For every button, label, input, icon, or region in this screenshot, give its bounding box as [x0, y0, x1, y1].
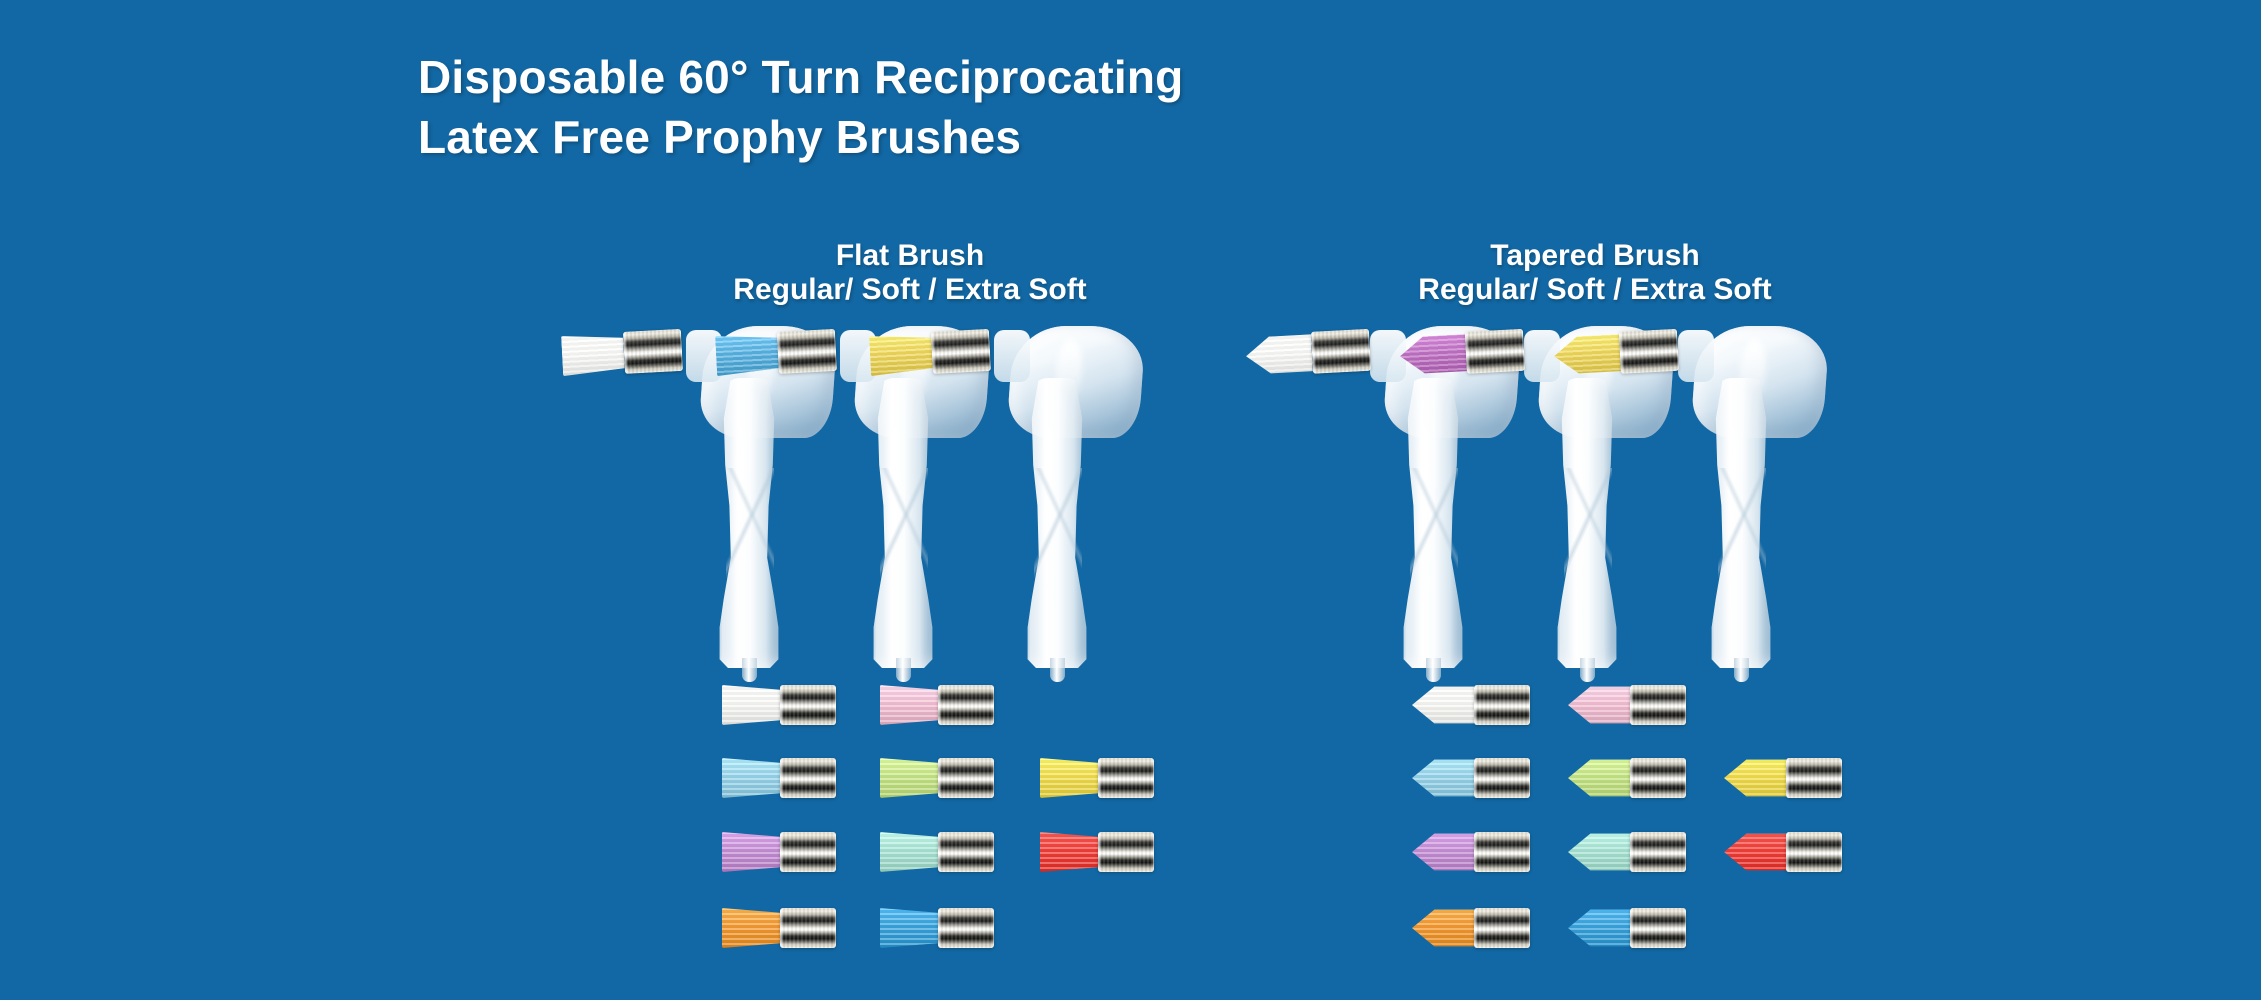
yellow-tapered-brush-handpiece-tip[interactable] [1553, 329, 1679, 377]
handpiece-stem [896, 658, 911, 682]
tapered-bristle [1568, 685, 1630, 725]
brush-head-flat-white[interactable] [722, 685, 836, 725]
tapered-bristle [1553, 333, 1621, 376]
handpiece-stem [1426, 658, 1441, 682]
brush-head-tapered-purple[interactable] [1412, 832, 1530, 872]
flat-bristle [722, 758, 780, 798]
flat-bristle [715, 333, 779, 376]
flat-bristle [1040, 832, 1098, 872]
handpiece-body [1552, 378, 1622, 668]
handpiece-collar [994, 330, 1030, 382]
tapered-bristle [1412, 685, 1474, 725]
handpiece-body [1398, 378, 1468, 668]
brush-head-tapered-lime-green[interactable] [1568, 758, 1686, 798]
metal-ferrule [623, 329, 683, 374]
metal-ferrule [780, 908, 836, 948]
flat-bristle [722, 685, 780, 725]
yellow-flat-brush-handpiece-tip[interactable] [869, 329, 991, 377]
metal-ferrule [938, 685, 994, 725]
flat-bristle [869, 333, 933, 376]
brush-head-flat-purple[interactable] [722, 832, 836, 872]
handpiece-stem [1050, 658, 1065, 682]
metal-ferrule [780, 832, 836, 872]
tapered-bristle [1399, 333, 1467, 376]
brush-head-flat-orange[interactable] [722, 908, 836, 948]
metal-ferrule [931, 329, 991, 374]
white-flat-brush-handpiece-tip[interactable] [561, 329, 683, 377]
metal-ferrule [1474, 832, 1530, 872]
tapered-bristle [1724, 758, 1786, 798]
brush-head-tapered-pink[interactable] [1568, 685, 1686, 725]
brush-head-tapered-orange[interactable] [1412, 908, 1530, 948]
flat-bristle [1040, 758, 1098, 798]
brush-head-tapered-red[interactable] [1724, 832, 1842, 872]
metal-ferrule [1474, 685, 1530, 725]
metal-ferrule [1786, 758, 1842, 798]
metal-ferrule [1098, 832, 1154, 872]
page-title: Disposable 60° Turn Reciprocating Latex … [418, 48, 1518, 168]
flat-bristle [722, 832, 780, 872]
tapered-bristle [1412, 758, 1474, 798]
metal-ferrule [1465, 329, 1525, 374]
purple-tapered-brush-handpiece-tip[interactable] [1399, 329, 1525, 377]
group-grades-flat: Regular/ Soft / Extra Soft [610, 272, 1210, 309]
handpiece-body [1706, 378, 1776, 668]
product-banner: Disposable 60° Turn Reciprocating Latex … [0, 0, 2261, 1000]
metal-ferrule [1630, 908, 1686, 948]
yellow-tapered-brush-handpiece[interactable] [1660, 318, 1840, 668]
tapered-bristle [1245, 333, 1313, 376]
metal-ferrule [938, 908, 994, 948]
yellow-flat-brush-handpiece[interactable] [976, 318, 1156, 668]
blue-flat-brush-handpiece-tip[interactable] [715, 329, 837, 377]
brush-head-flat-mint[interactable] [880, 832, 994, 872]
group-heading-tapered: Tapered Brush Regular/ Soft / Extra Soft [1295, 240, 1895, 309]
flat-bristle [880, 685, 938, 725]
group-grades-tapered: Regular/ Soft / Extra Soft [1295, 272, 1895, 309]
metal-ferrule [777, 329, 837, 374]
metal-ferrule [780, 758, 836, 798]
metal-ferrule [1630, 758, 1686, 798]
tapered-bristle [1412, 908, 1474, 948]
white-tapered-brush-handpiece-tip[interactable] [1245, 329, 1371, 377]
metal-ferrule [1786, 832, 1842, 872]
metal-ferrule [1098, 758, 1154, 798]
brush-head-flat-blue[interactable] [880, 908, 994, 948]
handpiece-body [1022, 378, 1092, 668]
metal-ferrule [1474, 908, 1530, 948]
page-title-line2: Latex Free Prophy Brushes [418, 108, 1518, 168]
flat-bristle [880, 758, 938, 798]
brush-head-flat-red[interactable] [1040, 832, 1154, 872]
tapered-bristle [1412, 832, 1474, 872]
brush-head-flat-light-blue[interactable] [722, 758, 836, 798]
tapered-bristle [1568, 758, 1630, 798]
metal-ferrule [1311, 329, 1371, 374]
flat-bristle [880, 832, 938, 872]
handpiece-stem [1580, 658, 1595, 682]
metal-ferrule [780, 685, 836, 725]
page-title-line1: Disposable 60° Turn Reciprocating [418, 51, 1183, 103]
handpiece-body [868, 378, 938, 668]
flat-bristle [880, 908, 938, 948]
handpiece-collar [1678, 330, 1714, 382]
metal-ferrule [1630, 685, 1686, 725]
metal-ferrule [1619, 329, 1679, 374]
tapered-bristle [1568, 832, 1630, 872]
group-heading-flat: Flat Brush Regular/ Soft / Extra Soft [610, 240, 1210, 309]
flat-bristle [561, 333, 625, 376]
brush-head-flat-pink[interactable] [880, 685, 994, 725]
handpiece-stem [742, 658, 757, 682]
metal-ferrule [938, 832, 994, 872]
metal-ferrule [938, 758, 994, 798]
flat-bristle [722, 908, 780, 948]
group-title-flat: Flat Brush [610, 240, 1210, 272]
brush-head-flat-yellow[interactable] [1040, 758, 1154, 798]
brush-head-tapered-mint[interactable] [1568, 832, 1686, 872]
brush-head-tapered-light-blue[interactable] [1412, 758, 1530, 798]
handpiece-body [714, 378, 784, 668]
brush-head-tapered-yellow[interactable] [1724, 758, 1842, 798]
group-title-tapered: Tapered Brush [1295, 240, 1895, 272]
brush-head-tapered-white[interactable] [1412, 685, 1530, 725]
brush-head-flat-lime-green[interactable] [880, 758, 994, 798]
tapered-bristle [1724, 832, 1786, 872]
handpiece-stem [1734, 658, 1749, 682]
metal-ferrule [1474, 758, 1530, 798]
metal-ferrule [1630, 832, 1686, 872]
brush-head-tapered-blue[interactable] [1568, 908, 1686, 948]
tapered-bristle [1568, 908, 1630, 948]
